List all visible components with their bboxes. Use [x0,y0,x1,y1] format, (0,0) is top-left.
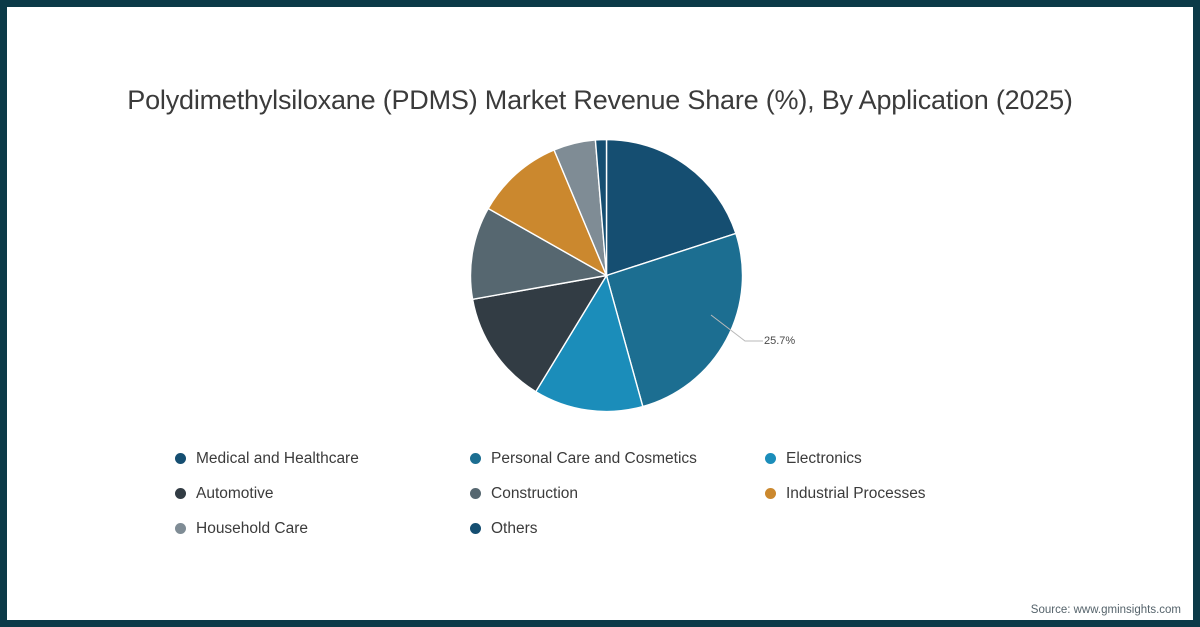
legend-swatch-icon [175,453,186,464]
legend-swatch-icon [470,488,481,499]
legend-item-label: Industrial Processes [786,485,926,503]
legend-swatch-icon [175,523,186,534]
chart-canvas: Polydimethylsiloxane (PDMS) Market Reven… [7,7,1193,620]
leader-line-svg [707,307,887,367]
legend-row: Medical and Healthcare Personal Care and… [175,441,1005,476]
legend-item-automotive[interactable]: Automotive [175,476,470,511]
legend-item-label: Medical and Healthcare [196,450,359,468]
legend-item-label: Others [491,520,538,538]
data-label-leader [707,307,887,367]
source-attribution: Source: www.gminsights.com [1031,604,1181,616]
chart-frame: Polydimethylsiloxane (PDMS) Market Reven… [0,0,1200,627]
legend-item-label: Household Care [196,520,308,538]
legend-item-household-care[interactable]: Household Care [175,511,470,546]
legend-item-construction[interactable]: Construction [470,476,765,511]
legend-swatch-icon [470,453,481,464]
legend-item-personal-care-and-cosmetics[interactable]: Personal Care and Cosmetics [470,441,765,476]
legend-swatch-icon [765,488,776,499]
pie-chart [469,138,744,413]
legend-row: Automotive Construction Industrial Proce… [175,476,1005,511]
legend-item-label: Construction [491,485,578,503]
legend-swatch-icon [470,523,481,534]
chart-legend: Medical and Healthcare Personal Care and… [175,441,1005,546]
legend-item-label: Personal Care and Cosmetics [491,450,697,468]
pie-slice-group [471,139,743,411]
legend-row: Household Care Others [175,511,1005,546]
legend-item-others[interactable]: Others [470,511,765,546]
legend-swatch-icon [765,453,776,464]
legend-item-medical-and-healthcare[interactable]: Medical and Healthcare [175,441,470,476]
data-label-25-7: 25.7% [764,335,795,347]
legend-item-empty [765,511,1005,546]
legend-item-electronics[interactable]: Electronics [765,441,1005,476]
legend-item-label: Automotive [196,485,274,503]
page-title: Polydimethylsiloxane (PDMS) Market Reven… [7,85,1193,116]
legend-swatch-icon [175,488,186,499]
legend-item-label: Electronics [786,450,862,468]
legend-item-industrial-processes[interactable]: Industrial Processes [765,476,1005,511]
pie-chart-svg [469,138,744,413]
